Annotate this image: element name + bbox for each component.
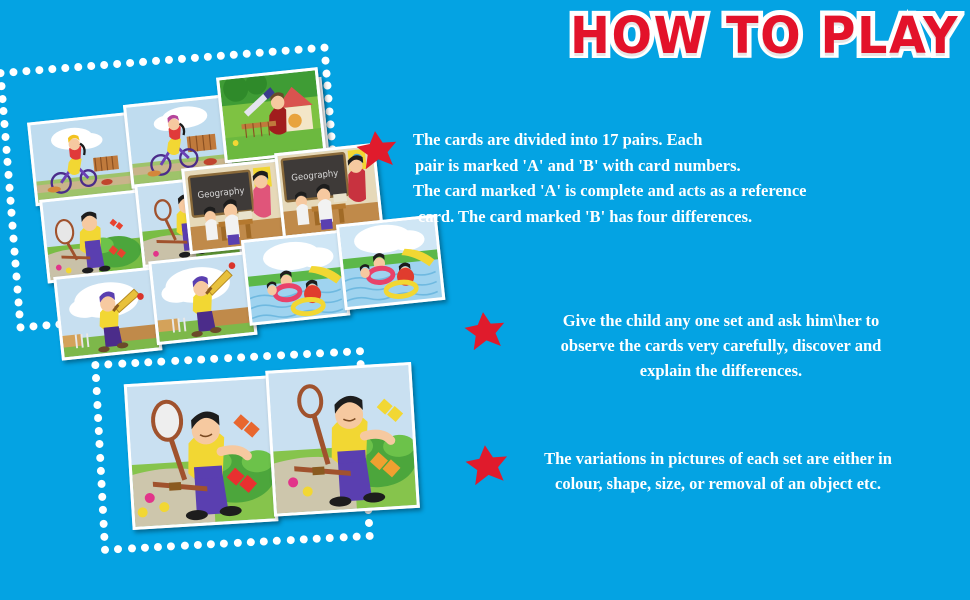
border-dot bbox=[323, 81, 332, 90]
border-dot bbox=[0, 82, 6, 91]
instruction-text-2: Give the child any one set and ask him\h… bbox=[505, 308, 937, 383]
instruction-text-3: The variations in pictures of each set a… bbox=[498, 446, 938, 496]
border-dot bbox=[246, 538, 254, 546]
page-title-text: HOW TO PLAY bbox=[570, 5, 959, 64]
border-dot bbox=[339, 533, 347, 541]
border-dot bbox=[303, 350, 311, 358]
border-dot bbox=[93, 387, 101, 395]
border-dot bbox=[4, 171, 13, 180]
border-dot bbox=[154, 543, 162, 551]
border-dot bbox=[93, 400, 101, 408]
border-dot bbox=[1, 132, 10, 141]
border-dot bbox=[104, 360, 112, 368]
border-dot bbox=[141, 544, 149, 552]
instruction-line: observe the cards very carefully, discov… bbox=[505, 333, 937, 358]
border-dot bbox=[96, 453, 104, 461]
border-dot bbox=[22, 67, 31, 76]
border-dot bbox=[139, 58, 148, 67]
border-dot bbox=[113, 60, 122, 69]
border-dot bbox=[320, 43, 329, 52]
border-dot bbox=[326, 120, 335, 129]
border-dot bbox=[294, 45, 303, 54]
border-dot bbox=[165, 56, 174, 65]
card-closeup-boy-net-b[interactable] bbox=[265, 362, 420, 517]
poster-canvas: HOW TO PLAY bbox=[0, 0, 970, 600]
border-dot bbox=[325, 107, 334, 116]
border-dot bbox=[329, 348, 337, 356]
border-dot bbox=[12, 272, 21, 281]
border-dot bbox=[365, 532, 373, 540]
spot-the-difference-card-grid: Geography Geography bbox=[13, 64, 335, 319]
instruction-line: colour, shape, size, or removal of an ob… bbox=[498, 471, 938, 496]
border-dot bbox=[316, 349, 324, 357]
border-dot bbox=[327, 132, 336, 141]
border-dot bbox=[0, 94, 7, 103]
border-dot bbox=[127, 544, 135, 552]
border-dot bbox=[281, 46, 290, 55]
border-dot bbox=[260, 537, 268, 545]
border-dot bbox=[95, 440, 103, 448]
border-dot bbox=[191, 54, 200, 63]
border-dot bbox=[0, 107, 8, 116]
border-dot bbox=[178, 55, 187, 64]
border-dot bbox=[11, 260, 20, 269]
border-dot bbox=[204, 53, 213, 62]
border-dot bbox=[152, 57, 161, 66]
border-dot bbox=[352, 532, 360, 540]
red-star-icon bbox=[356, 129, 398, 169]
border-dot bbox=[99, 506, 107, 514]
border-dot bbox=[321, 56, 330, 65]
border-dot bbox=[322, 69, 331, 78]
border-dot bbox=[326, 534, 334, 542]
border-dot bbox=[286, 536, 294, 544]
border-dot bbox=[0, 69, 5, 78]
instruction-line: explain the differences. bbox=[505, 358, 937, 383]
instruction-line: Give the child any one set and ask him\h… bbox=[505, 308, 937, 333]
border-dot bbox=[365, 519, 373, 527]
border-dot bbox=[9, 234, 18, 243]
border-dot bbox=[14, 298, 23, 307]
border-dot bbox=[100, 532, 108, 540]
card-cricket-a[interactable] bbox=[53, 267, 162, 361]
border-dot bbox=[237, 353, 245, 361]
instruction-line: pair is marked 'A' and 'B' with card num… bbox=[413, 153, 913, 179]
border-dot bbox=[97, 480, 105, 488]
border-dot bbox=[92, 374, 100, 382]
border-dot bbox=[15, 310, 24, 319]
border-dot bbox=[250, 353, 258, 361]
border-dot bbox=[98, 493, 106, 501]
border-dot bbox=[299, 535, 307, 543]
border-dot bbox=[210, 355, 218, 363]
page-title: HOW TO PLAY bbox=[565, 4, 965, 66]
border-dot bbox=[223, 354, 231, 362]
border-dot bbox=[126, 59, 135, 68]
border-dot bbox=[35, 66, 44, 75]
card-cricket-b[interactable] bbox=[148, 251, 257, 345]
border-dot bbox=[180, 541, 188, 549]
border-dot bbox=[157, 357, 165, 365]
border-dot bbox=[74, 63, 83, 72]
instruction-line: The variations in pictures of each set a… bbox=[498, 446, 938, 471]
border-dot bbox=[290, 350, 298, 358]
border-dot bbox=[99, 519, 107, 527]
border-dot bbox=[95, 427, 103, 435]
border-dot bbox=[94, 414, 102, 422]
red-star-icon bbox=[464, 310, 506, 350]
border-dot bbox=[87, 62, 96, 71]
border-dot bbox=[114, 545, 122, 553]
border-dot bbox=[193, 541, 201, 549]
border-dot bbox=[276, 351, 284, 359]
instruction-line: card. The card marked 'B' has four diffe… bbox=[413, 204, 913, 230]
instruction-text-1: The cards are divided into 17 pairs. Eac… bbox=[413, 127, 913, 229]
border-dot bbox=[144, 358, 152, 366]
boy-with-butterfly-net-pair bbox=[106, 360, 362, 541]
border-dot bbox=[10, 247, 19, 256]
border-dot bbox=[263, 352, 271, 360]
border-dot bbox=[2, 145, 11, 154]
border-dot bbox=[61, 64, 70, 73]
border-dot bbox=[167, 542, 175, 550]
border-dot bbox=[229, 50, 238, 59]
border-dot bbox=[48, 65, 57, 74]
border-dot bbox=[100, 61, 109, 70]
border-dot bbox=[5, 183, 14, 192]
border-dot bbox=[9, 68, 18, 77]
border-dot bbox=[273, 537, 281, 545]
border-dot bbox=[313, 535, 321, 543]
border-dot bbox=[324, 94, 333, 103]
border-dot bbox=[3, 158, 12, 167]
border-dot bbox=[220, 539, 228, 547]
border-dot bbox=[184, 356, 192, 364]
border-dot bbox=[29, 322, 38, 331]
border-dot bbox=[242, 49, 251, 58]
border-dot bbox=[171, 357, 179, 365]
border-dot bbox=[255, 48, 264, 57]
border-dot bbox=[42, 321, 51, 330]
border-dot bbox=[207, 540, 215, 548]
border-dot bbox=[307, 44, 316, 53]
border-dot bbox=[131, 359, 139, 367]
border-dot bbox=[6, 196, 15, 205]
border-dot bbox=[217, 52, 226, 61]
card-swimming-a[interactable] bbox=[241, 230, 350, 326]
border-dot bbox=[233, 539, 241, 547]
border-dot bbox=[16, 323, 25, 332]
border-dot bbox=[197, 355, 205, 363]
border-dot bbox=[91, 361, 99, 369]
border-dot bbox=[101, 546, 109, 554]
instruction-line: The card marked 'A' is complete and acts… bbox=[413, 178, 913, 204]
border-dot bbox=[13, 285, 22, 294]
border-dot bbox=[118, 359, 126, 367]
instruction-line: The cards are divided into 17 pairs. Eac… bbox=[413, 127, 913, 153]
border-dot bbox=[0, 120, 9, 129]
border-dot bbox=[356, 347, 364, 355]
border-dot bbox=[8, 221, 17, 230]
border-dot bbox=[7, 209, 16, 218]
border-dot bbox=[97, 466, 105, 474]
border-dot bbox=[268, 47, 277, 56]
card-closeup-boy-net-a[interactable] bbox=[124, 375, 279, 530]
border-dot bbox=[343, 348, 351, 356]
